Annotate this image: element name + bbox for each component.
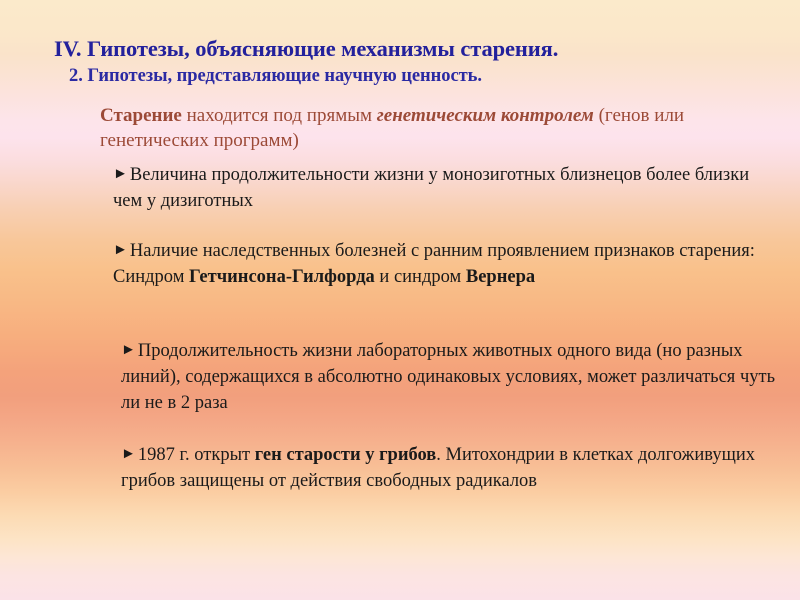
triangle-bullet-icon: ►: [113, 243, 130, 258]
term-fungal-aging-gene: ген старости у грибов: [255, 445, 437, 465]
lead-run-1: находится под прямым: [182, 105, 377, 126]
triangle-bullet-icon: ►: [121, 343, 138, 358]
bullet-item-2: ►Наличие наследственных болезней с ранни…: [113, 239, 773, 290]
bullet-item-3-text: Продолжительность жизни лабораторных жив…: [121, 341, 775, 413]
lead-paragraph: Старение находится под прямым генетическ…: [100, 103, 700, 153]
slide-canvas: IV. Гипотезы, объясняющие механизмы стар…: [0, 0, 800, 600]
syndrome-name-hutchinson-gilford: Гетчинсона-Гилфорда: [189, 267, 375, 287]
bullet-item-1-text: Величина продолжительности жизни у моноз…: [113, 165, 749, 211]
bullet-item-4: ►1987 г. открыт ген старости у грибов. М…: [121, 443, 791, 495]
slide-heading: IV. Гипотезы, объясняющие механизмы стар…: [54, 36, 754, 61]
lead-bold-term: Старение: [100, 105, 182, 126]
bullet-item-3: ►Продолжительность жизни лабораторных жи…: [121, 339, 781, 417]
lead-bold-italic-term: генетическим контролем: [377, 105, 594, 126]
bullet-item-4-text-pre: 1987 г. открыт: [138, 445, 255, 465]
bullet-item-2-text-mid: и синдром: [375, 267, 466, 287]
bullet-item-1: ►Величина продолжительности жизни у моно…: [113, 163, 773, 214]
syndrome-name-werner: Вернера: [466, 267, 535, 287]
triangle-bullet-icon: ►: [113, 167, 130, 182]
slide-subheading: 2. Гипотезы, представляющие научную ценн…: [69, 66, 769, 87]
triangle-bullet-icon: ►: [121, 447, 138, 462]
